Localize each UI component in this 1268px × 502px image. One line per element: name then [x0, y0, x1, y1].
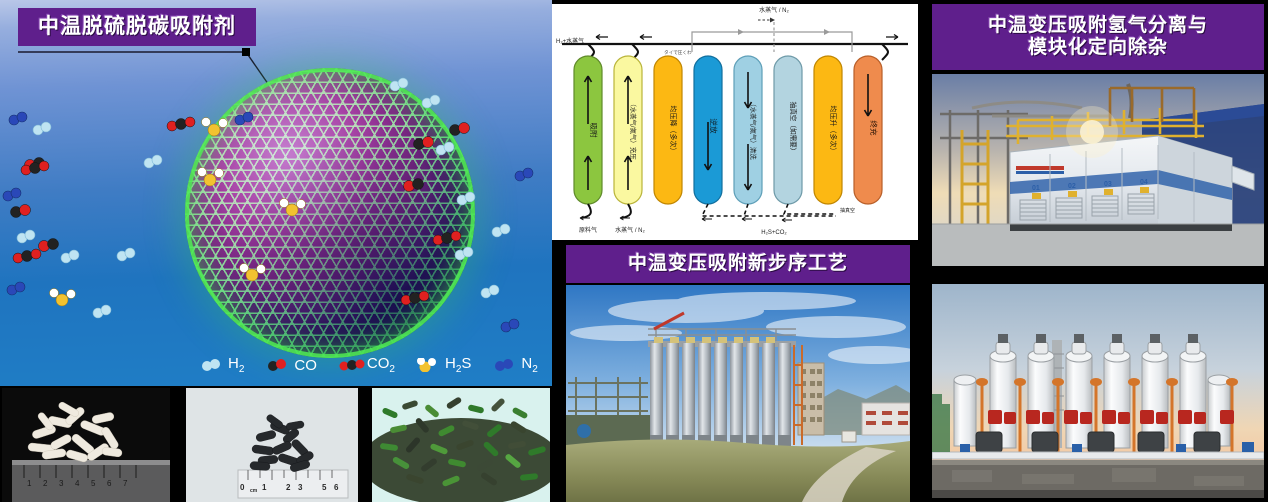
svg-text:0: 0	[240, 483, 245, 492]
diagram-svg: 水蒸气 / N₂ H₂+水蒸气 タイで圧くわ 吸附	[552, 4, 918, 240]
svg-text:6: 6	[334, 483, 339, 492]
svg-text:1: 1	[27, 479, 32, 488]
column-label-purge-steam: （水蒸气/氮气）清洗	[749, 100, 758, 160]
hydrogen-sulfide-molecule-icon	[417, 358, 439, 372]
right-title-line1: 中温变压吸附氢气分离与	[988, 15, 1208, 37]
legend-item-carbon-monoxide: CO	[266, 357, 317, 374]
photo-green-pellets	[372, 388, 550, 502]
diagram-small-note: タイで圧くわ	[664, 49, 692, 56]
column-vacuum: 抽真空（如需要）	[774, 56, 802, 204]
svg-text:03: 03	[1104, 181, 1112, 188]
column-label-vacuum: 抽真空（如需要）	[789, 102, 798, 155]
diagram-top-left-label: H₂+水蒸气	[556, 37, 584, 45]
legend-label-hydrogen-sulfide: H2S	[445, 355, 471, 375]
svg-text:3: 3	[298, 483, 303, 492]
diagram-bottom-label-steam: 水蒸气 / N₂	[615, 226, 645, 234]
gas-legend: H2 CO CO2 H2S	[200, 352, 538, 378]
diagram-top-center-label: 水蒸气 / N₂	[759, 6, 789, 14]
right-title-line2: 模块化定向除杂	[988, 37, 1208, 59]
svg-text:5: 5	[322, 483, 327, 492]
left-panel: 中温脱硫脱碳吸附剂 H2 CO CO2	[0, 0, 552, 386]
column-counter-current: 逆放	[694, 56, 722, 204]
gas-molecules	[0, 0, 552, 386]
legend-item-nitrogen: N2	[493, 355, 537, 375]
nitrogen-molecule-icon	[493, 358, 515, 372]
column-label-equalize-up: 均压升（多次）	[829, 106, 838, 155]
modular-skid-photo: 0102 0304	[932, 74, 1264, 266]
column-equalize-up: 均压升（多次）	[814, 56, 842, 204]
adsorbent-photo-strip: 123 456 7	[0, 388, 552, 502]
carbon-monoxide-molecule-icon	[266, 358, 288, 372]
diagram-bottom-label-offgas: H₂S+CO₂	[761, 230, 787, 236]
svg-text:cm: cm	[250, 488, 258, 494]
column-purge-steam: （水蒸气/氮气）清洗	[734, 56, 762, 204]
svg-text:3: 3	[59, 479, 64, 488]
column-pressurize-steam: （水蒸气/氮气）充压	[614, 56, 642, 204]
legend-item-hydrogen-sulfide: H2S	[417, 355, 471, 375]
svg-text:5: 5	[91, 479, 96, 488]
column-label-counter-current: 逆放	[709, 118, 719, 134]
svg-text:6: 6	[107, 479, 112, 488]
svg-text:04: 04	[1140, 179, 1148, 186]
psa-adsorber-vessels-photo	[932, 284, 1264, 498]
diagram-vacuum-label: 抽真空	[840, 207, 855, 214]
svg-text:2: 2	[286, 483, 291, 492]
center-panel-title: 中温变压吸附新步序工艺	[566, 245, 910, 283]
svg-text:02: 02	[1068, 183, 1076, 190]
svg-text:4: 4	[75, 479, 80, 488]
column-adsorption: 吸附	[574, 56, 602, 204]
column-label-final-fill: 终充	[869, 120, 879, 136]
left-panel-title: 中温脱硫脱碳吸附剂	[18, 8, 256, 46]
poster-root: 中温脱硫脱碳吸附剂 H2 CO CO2	[0, 0, 1268, 502]
legend-label-carbon-monoxide: CO	[294, 357, 317, 374]
right-panel-title: 中温变压吸附氢气分离与 模块化定向除杂	[932, 4, 1264, 70]
svg-text:2: 2	[43, 479, 48, 488]
legend-item-carbon-dioxide: CO2	[339, 355, 395, 375]
psa-step-sequence-diagram: 水蒸气 / N₂ H₂+水蒸气 タイで圧くわ 吸附	[552, 4, 918, 240]
column-label-adsorption: 吸附	[589, 122, 598, 138]
hydrogen-molecule-icon	[200, 358, 222, 372]
legend-label-nitrogen: N2	[521, 355, 537, 375]
psa-tower-array-photo	[566, 285, 910, 502]
photo-black-pellets: 0cm 12 356	[186, 388, 358, 502]
carbon-dioxide-molecule-icon	[339, 358, 361, 372]
svg-text:01: 01	[1032, 185, 1040, 192]
legend-label-carbon-dioxide: CO2	[367, 355, 395, 375]
svg-text:1: 1	[262, 483, 267, 492]
column-label-equalize-down: 均压降（多次）	[669, 106, 678, 155]
column-final-fill: 终充	[854, 56, 882, 204]
photo-white-pellets: 123 456 7	[2, 388, 170, 502]
legend-label-hydrogen: H2	[228, 355, 244, 375]
column-equalize-down: 均压降（多次）	[654, 56, 682, 204]
column-label-pressurize-steam: （水蒸气/氮气）充压	[629, 100, 638, 160]
svg-text:7: 7	[123, 479, 128, 488]
diagram-bottom-label-feed: 原料气	[579, 226, 597, 234]
legend-item-hydrogen: H2	[200, 355, 244, 375]
